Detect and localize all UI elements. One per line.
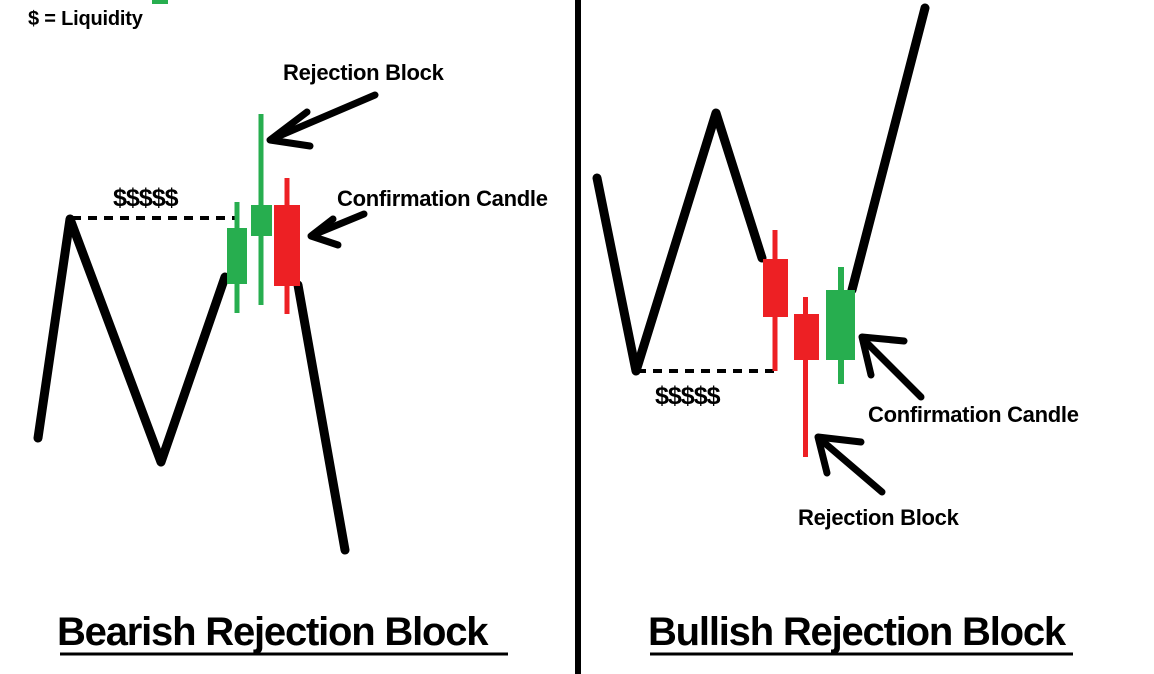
bullish-candle-1 [763,230,788,371]
bullish-rejection-block-arrow [818,437,882,492]
bearish-continuation-path [298,285,345,550]
bearish-candle-1-body [227,228,247,284]
panel-bullish: $$$$$ Confirmation Candle [597,8,1079,654]
bullish-candle-2-rejection-block [794,297,819,457]
rejection-block-diagram: $ = Liquidity $$$$$ [0,0,1154,674]
bullish-confirmation-candle-arrow [862,337,921,397]
bearish-candle-1 [227,202,247,313]
bullish-swing-path [597,113,762,371]
panel-bearish: $$$$$ Rejection Block [38,60,548,654]
bullish-confirmation-candle-label: Confirmation Candle [868,402,1079,427]
bearish-rejection-block-label: Rejection Block [283,60,445,85]
bearish-confirmation-candle-arrow [311,214,364,245]
bullish-candle-3-body [826,290,855,360]
bullish-continuation-path [852,8,925,290]
bearish-candle-3-body [274,205,300,286]
legend-green-marker [152,0,168,4]
bullish-candle-1-body [763,259,788,317]
legend-liquidity-label: $ = Liquidity [28,8,144,30]
bearish-swing-path [38,219,225,462]
diagram-canvas: $ = Liquidity $$$$$ [0,0,1154,674]
bearish-confirmation-candle-label: Confirmation Candle [337,186,548,211]
bullish-candle-2-body [794,314,819,360]
bearish-panel-title: Bearish Rejection Block [57,610,489,654]
bearish-liquidity-label: $$$$$ [113,184,179,212]
bearish-rejection-block-arrow [270,95,375,146]
bullish-rejection-block-label: Rejection Block [798,505,960,530]
bearish-candle-2-body [251,205,272,236]
bullish-panel-title: Bullish Rejection Block [648,610,1067,654]
bullish-liquidity-label: $$$$$ [655,382,721,410]
